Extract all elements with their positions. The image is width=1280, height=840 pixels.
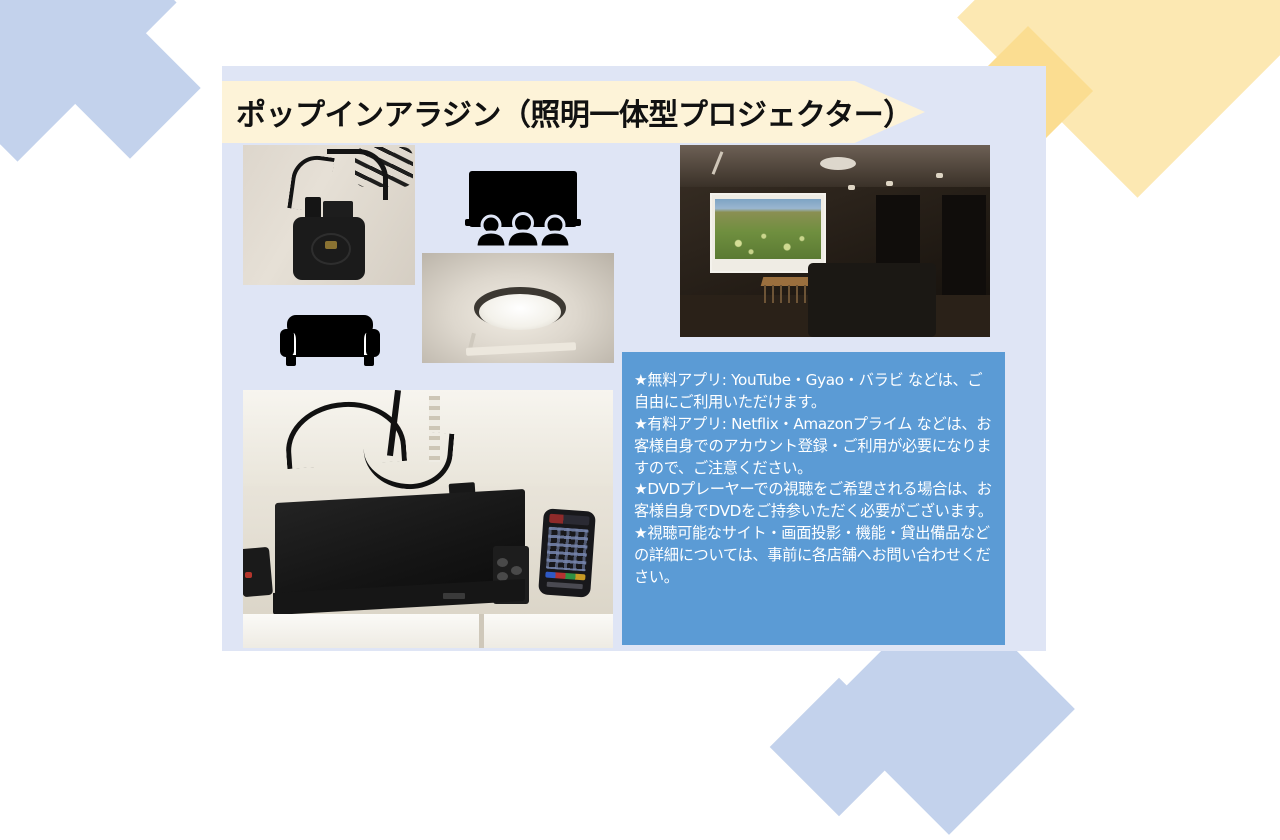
lower-shelf bbox=[243, 614, 613, 648]
device-ring bbox=[311, 233, 351, 265]
remote-color-buttons bbox=[545, 572, 585, 581]
dvd-player-photo bbox=[243, 390, 613, 648]
sofa-icon bbox=[275, 311, 385, 373]
window-curtain bbox=[942, 195, 986, 299]
device-logo bbox=[325, 241, 337, 249]
light-lens bbox=[479, 294, 561, 330]
projected-image bbox=[715, 199, 821, 259]
decor-diamond-large bbox=[0, 0, 177, 162]
projection-screen bbox=[710, 193, 826, 273]
cable-loop-right bbox=[327, 149, 388, 200]
projection-room-photo bbox=[680, 145, 990, 337]
disc-tray-slot bbox=[443, 593, 465, 599]
player-button bbox=[511, 566, 522, 575]
ceiling-light-photo bbox=[422, 253, 614, 363]
secondary-device-indicator bbox=[245, 572, 252, 578]
spot-light bbox=[886, 181, 893, 186]
ceiling-light-fixture bbox=[820, 157, 856, 170]
tv-remote-control bbox=[538, 508, 596, 597]
spot-light bbox=[936, 173, 943, 178]
decor-diamond-small bbox=[59, 17, 200, 158]
projector-device-photo bbox=[243, 145, 415, 285]
page-title: ポップインアラジン（照明一体型プロジェクター） bbox=[222, 90, 913, 134]
decor-diamond-small bbox=[770, 678, 909, 817]
slide-panel: ポップインアラジン（照明一体型プロジェクター） bbox=[222, 66, 1046, 651]
title-banner: ポップインアラジン（照明一体型プロジェクター） bbox=[222, 81, 925, 143]
remote-brand-label bbox=[547, 582, 583, 589]
player-button bbox=[497, 558, 508, 567]
spot-light bbox=[848, 185, 855, 190]
room-sofa bbox=[808, 263, 936, 337]
remote-keypad bbox=[546, 527, 589, 572]
lower-shelf-seam bbox=[479, 614, 484, 648]
info-note-text: ★無料アプリ: YouTube・Gyao・バラビ などは、ご自由にご利用いただけ… bbox=[634, 370, 993, 589]
info-note-box: ★無料アプリ: YouTube・Gyao・バラビ などは、ご自由にご利用いただけ… bbox=[622, 352, 1005, 645]
cinema-screen-icon bbox=[463, 169, 583, 247]
remote-power-row bbox=[549, 514, 590, 526]
